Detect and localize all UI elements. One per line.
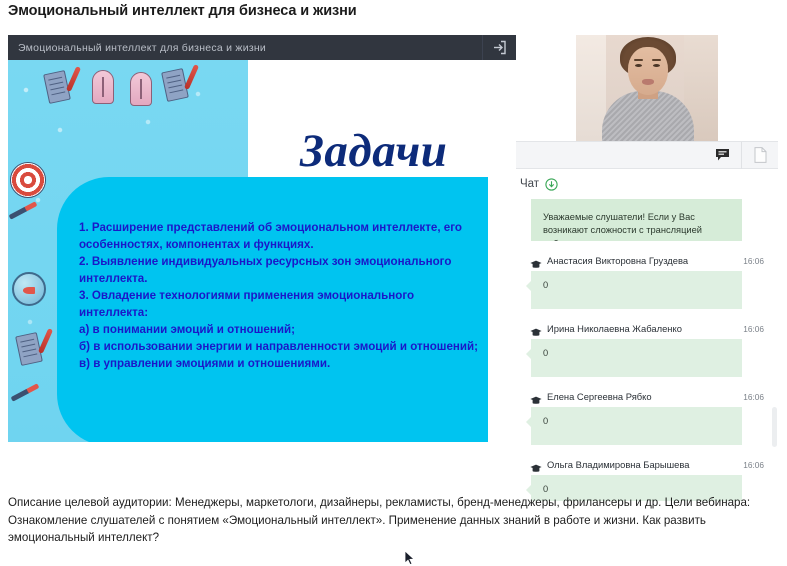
chat-message: Елена Сергеевна Рябко 16:06 0 (516, 391, 778, 445)
slide-canvas: Задачи 1. Расширение представлений об эм… (8, 60, 516, 442)
player-title-bar: Эмоциональный интеллект для бизнеса и жи… (8, 35, 516, 60)
presenter-video[interactable] (516, 35, 778, 141)
page-title: Эмоциональный интеллект для бизнеса и жи… (8, 3, 357, 19)
scroll-quill-icon (42, 66, 76, 108)
chat-message-list[interactable]: Уважаемые слушатели! Если у Вас возникаю… (516, 195, 778, 501)
pennant-icon (92, 70, 114, 104)
chat-scroll-content: Уважаемые слушатели! Если у Вас возникаю… (516, 195, 778, 501)
slide-content-card: 1. Расширение представлений об эмоционал… (57, 177, 488, 442)
chat-message-text: 0 (531, 339, 742, 377)
chat-message-author: Анастасия Викторовна Груздева (547, 255, 743, 266)
chat-message-header: Ольга Владимировна Барышева 16:06 (516, 459, 778, 470)
arrow-icon (9, 201, 38, 219)
chat-message-author: Ирина Николаевна Жабаленко (547, 323, 743, 334)
chat-header: Чат (516, 169, 778, 195)
chat-message-time: 16:06 (743, 256, 764, 266)
graduation-cap-icon (530, 460, 542, 469)
exit-arrow-icon[interactable] (482, 35, 516, 60)
panel-toolbar (516, 141, 778, 169)
chat-message-time: 16:06 (743, 324, 764, 334)
graduation-cap-icon (530, 324, 542, 333)
right-panel: Чат Уважаемые слушатели! Если у Вас возн… (516, 35, 778, 475)
graduation-cap-icon (530, 392, 542, 401)
player-bar-title: Эмоциональный интеллект для бизнеса и жи… (8, 42, 266, 54)
chat-message-text: 0 (531, 271, 742, 309)
files-tab-icon[interactable] (741, 142, 778, 169)
mouse-cursor (404, 550, 416, 566)
chat-scrollbar[interactable] (772, 407, 777, 447)
chat-message-author: Елена Сергеевна Рябко (547, 391, 743, 402)
chat-message-header: Анастасия Викторовна Груздева 16:06 (516, 255, 778, 266)
chat-message-header: Елена Сергеевна Рябко 16:06 (516, 391, 778, 402)
chat-message: Ирина Николаевна Жабаленко 16:06 0 (516, 323, 778, 377)
page-root: Эмоциональный интеллект для бизнеса и жи… (0, 0, 787, 566)
chat-announcement: Уважаемые слушатели! Если у Вас возникаю… (531, 199, 742, 241)
slide-heading: Задачи (300, 124, 447, 178)
target-icon (10, 162, 46, 198)
webinar-description: Описание целевой аудитории: Менеджеры, м… (8, 494, 780, 547)
chat-message-time: 16:06 (743, 392, 764, 402)
chat-message-time: 16:06 (743, 460, 764, 470)
scroll-quill-icon (160, 64, 194, 106)
pennant-icon (130, 72, 152, 106)
chat-message-author: Ольга Владимировна Барышева (547, 459, 743, 470)
chat-message-text: 0 (531, 407, 742, 445)
webinar-player: Эмоциональный интеллект для бизнеса и жи… (8, 35, 516, 442)
chat-tab-icon[interactable] (704, 142, 741, 169)
presenter-webcam-frame (576, 35, 718, 141)
chat-message: Анастасия Викторовна Груздева 16:06 0 (516, 255, 778, 309)
scroll-quill-icon (14, 328, 48, 370)
download-circle-icon[interactable] (545, 178, 558, 191)
slide-body-text: 1. Расширение представлений об эмоционал… (79, 219, 478, 372)
arrow-icon (11, 383, 40, 401)
chat-header-label: Чат (520, 178, 539, 190)
graduation-cap-icon (530, 256, 542, 265)
fishbowl-icon (12, 272, 46, 306)
chat-message-header: Ирина Николаевна Жабаленко 16:06 (516, 323, 778, 334)
